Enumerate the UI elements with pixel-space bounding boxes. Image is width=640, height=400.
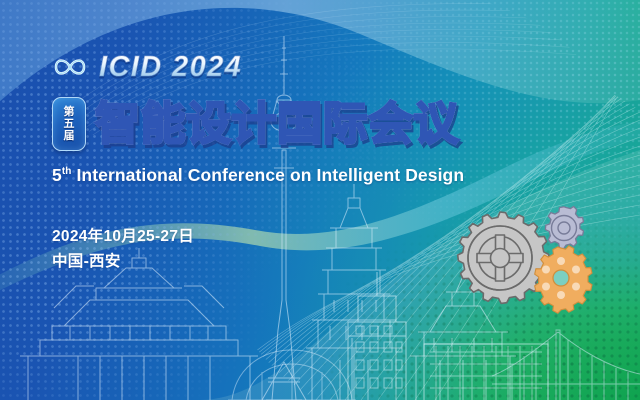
title-row: 第 五 届 智能设计国际会议 — [52, 96, 522, 152]
event-location: 中国-西安 — [52, 249, 522, 274]
badge-char-3: 届 — [64, 131, 75, 142]
conference-title-cn: 智能设计国际会议 — [95, 98, 459, 150]
logo-row: ICID 2024 — [52, 48, 522, 86]
landmark-stadium — [228, 350, 356, 400]
banner-content: ICID 2024 第 五 届 智能设计国际会议 5th Internation… — [52, 48, 522, 274]
small-gear — [545, 206, 583, 248]
edition-badge: 第 五 届 — [52, 97, 86, 151]
acronym-text: ICID 2024 — [99, 53, 242, 82]
conference-title-en: 5th International Conference on Intellig… — [52, 165, 522, 186]
conference-banner: ICID 2024 第 五 届 智能设计国际会议 5th Internation… — [0, 0, 640, 400]
landmark-office-tower — [348, 336, 408, 400]
orange-gear — [535, 246, 592, 313]
edition-number: 5 — [52, 165, 62, 185]
landmark-bridge — [492, 330, 640, 400]
infinity-knot-logo-icon — [52, 52, 88, 82]
event-date: 2024年10月25-27日 — [52, 224, 522, 249]
badge-char-2: 五 — [64, 119, 75, 130]
event-meta: 2024年10月25-27日 中国-西安 — [52, 224, 522, 274]
badge-char-1: 第 — [64, 107, 75, 118]
conference-title-en-rest: International Conference on Intelligent … — [71, 165, 464, 185]
